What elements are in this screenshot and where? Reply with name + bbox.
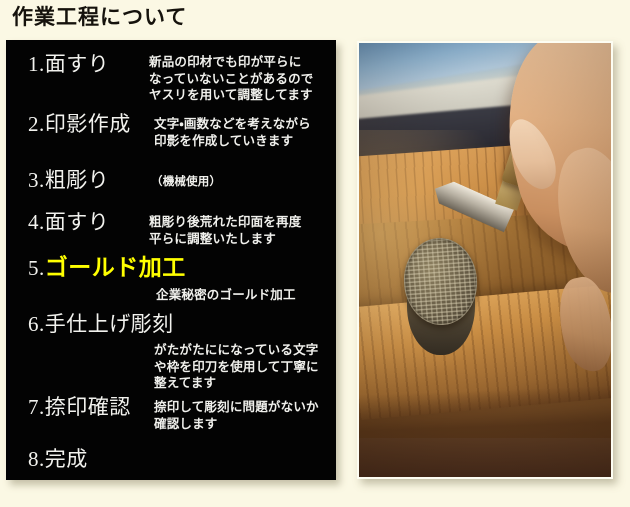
step-2-heading: 2.印影作成 [28,112,131,137]
step-1-description: 新品の印材でも印が平らに なっていないことがあるので ヤスリを用いて調整してます [149,54,334,104]
step-7-number: 7. [28,395,45,419]
step-8-number: 8. [28,447,45,471]
step-4-number: 4. [28,210,45,234]
step-3-number: 3. [28,168,45,192]
step-1-number: 1. [28,52,45,76]
process-step-panel: 1.面すり 新品の印材でも印が平らに なっていないことがあるので ヤスリを用いて… [6,40,336,480]
step-4-heading: 4.面すり [28,210,109,235]
step-7-description: 捺印して彫刻に問題がないか 確認します [154,399,336,432]
photo-vignette [359,43,611,477]
step-5-description: 企業秘密のゴールド加工 [156,287,336,304]
step-5-heading: 5.ゴールド加工 [28,255,186,281]
step-3-description: （機械使用） [151,174,333,191]
step-6-number: 6. [28,312,45,336]
carving-photo [359,43,611,477]
page-title: 作業工程について [12,2,187,32]
step-3-label: 粗彫り [45,168,110,192]
carving-photo-frame [357,41,613,479]
step-4-label: 面すり [45,210,110,234]
step-6-heading: 6.手仕上げ彫刻 [28,312,174,337]
step-4-description: 粗彫り後荒れた印面を再度 平らに調整いたします [149,214,334,247]
step-3-heading: 3.粗彫り [28,168,109,193]
step-2-description: 文字・画数などを考えながら 印影を作成していきます [154,116,336,149]
step-5-label: ゴールド加工 [45,255,186,280]
step-6-label: 手仕上げ彫刻 [45,312,174,336]
step-8-label: 完成 [45,447,88,471]
step-8-heading: 8.完成 [28,447,88,472]
step-2-number: 2. [28,112,45,136]
step-7-label: 捺印確認 [45,395,131,419]
step-6-description: がたがたにになっている文字 や枠を印刀を使用して丁寧に 整えてます [154,342,336,392]
step-2-label: 印影作成 [45,112,131,136]
step-1-heading: 1.面すり [28,52,109,77]
step-5-number: 5. [28,256,45,280]
step-1-label: 面すり [45,52,110,76]
step-7-heading: 7.捺印確認 [28,395,131,420]
